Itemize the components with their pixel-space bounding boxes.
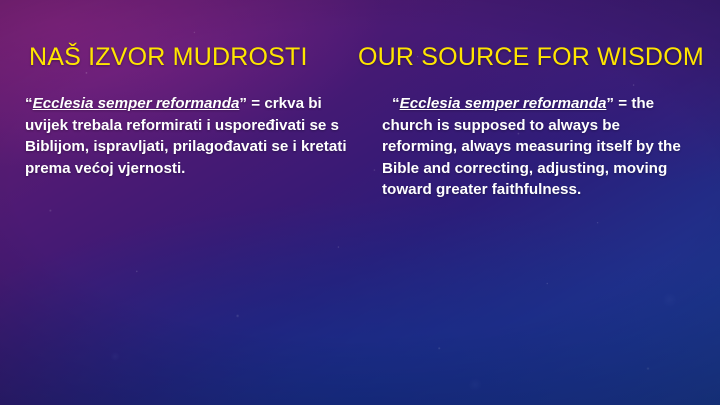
right-latin-phrase: Ecclesia semper reformanda bbox=[400, 95, 607, 112]
left-column-body: “Ecclesia semper reformanda” = crkva bi … bbox=[25, 93, 347, 179]
left-close-quote: ” bbox=[239, 95, 247, 112]
right-open-quote: “ bbox=[392, 95, 400, 112]
left-column-title: NAŠ IZVOR MUDROSTI bbox=[29, 43, 308, 72]
presentation-slide: NAŠ IZVOR MUDROSTI “Ecclesia semper refo… bbox=[0, 0, 720, 405]
right-column-title: OUR SOURCE FOR WISDOM bbox=[358, 43, 704, 72]
right-column-body: “Ecclesia semper reformanda” = the churc… bbox=[382, 93, 687, 201]
left-open-quote: “ bbox=[25, 95, 33, 112]
right-close-quote: ” bbox=[606, 95, 614, 112]
left-column: NAŠ IZVOR MUDROSTI “Ecclesia semper refo… bbox=[0, 0, 355, 405]
left-latin-phrase: Ecclesia semper reformanda bbox=[33, 95, 240, 112]
right-column: OUR SOURCE FOR WISDOM “Ecclesia semper r… bbox=[355, 0, 720, 405]
